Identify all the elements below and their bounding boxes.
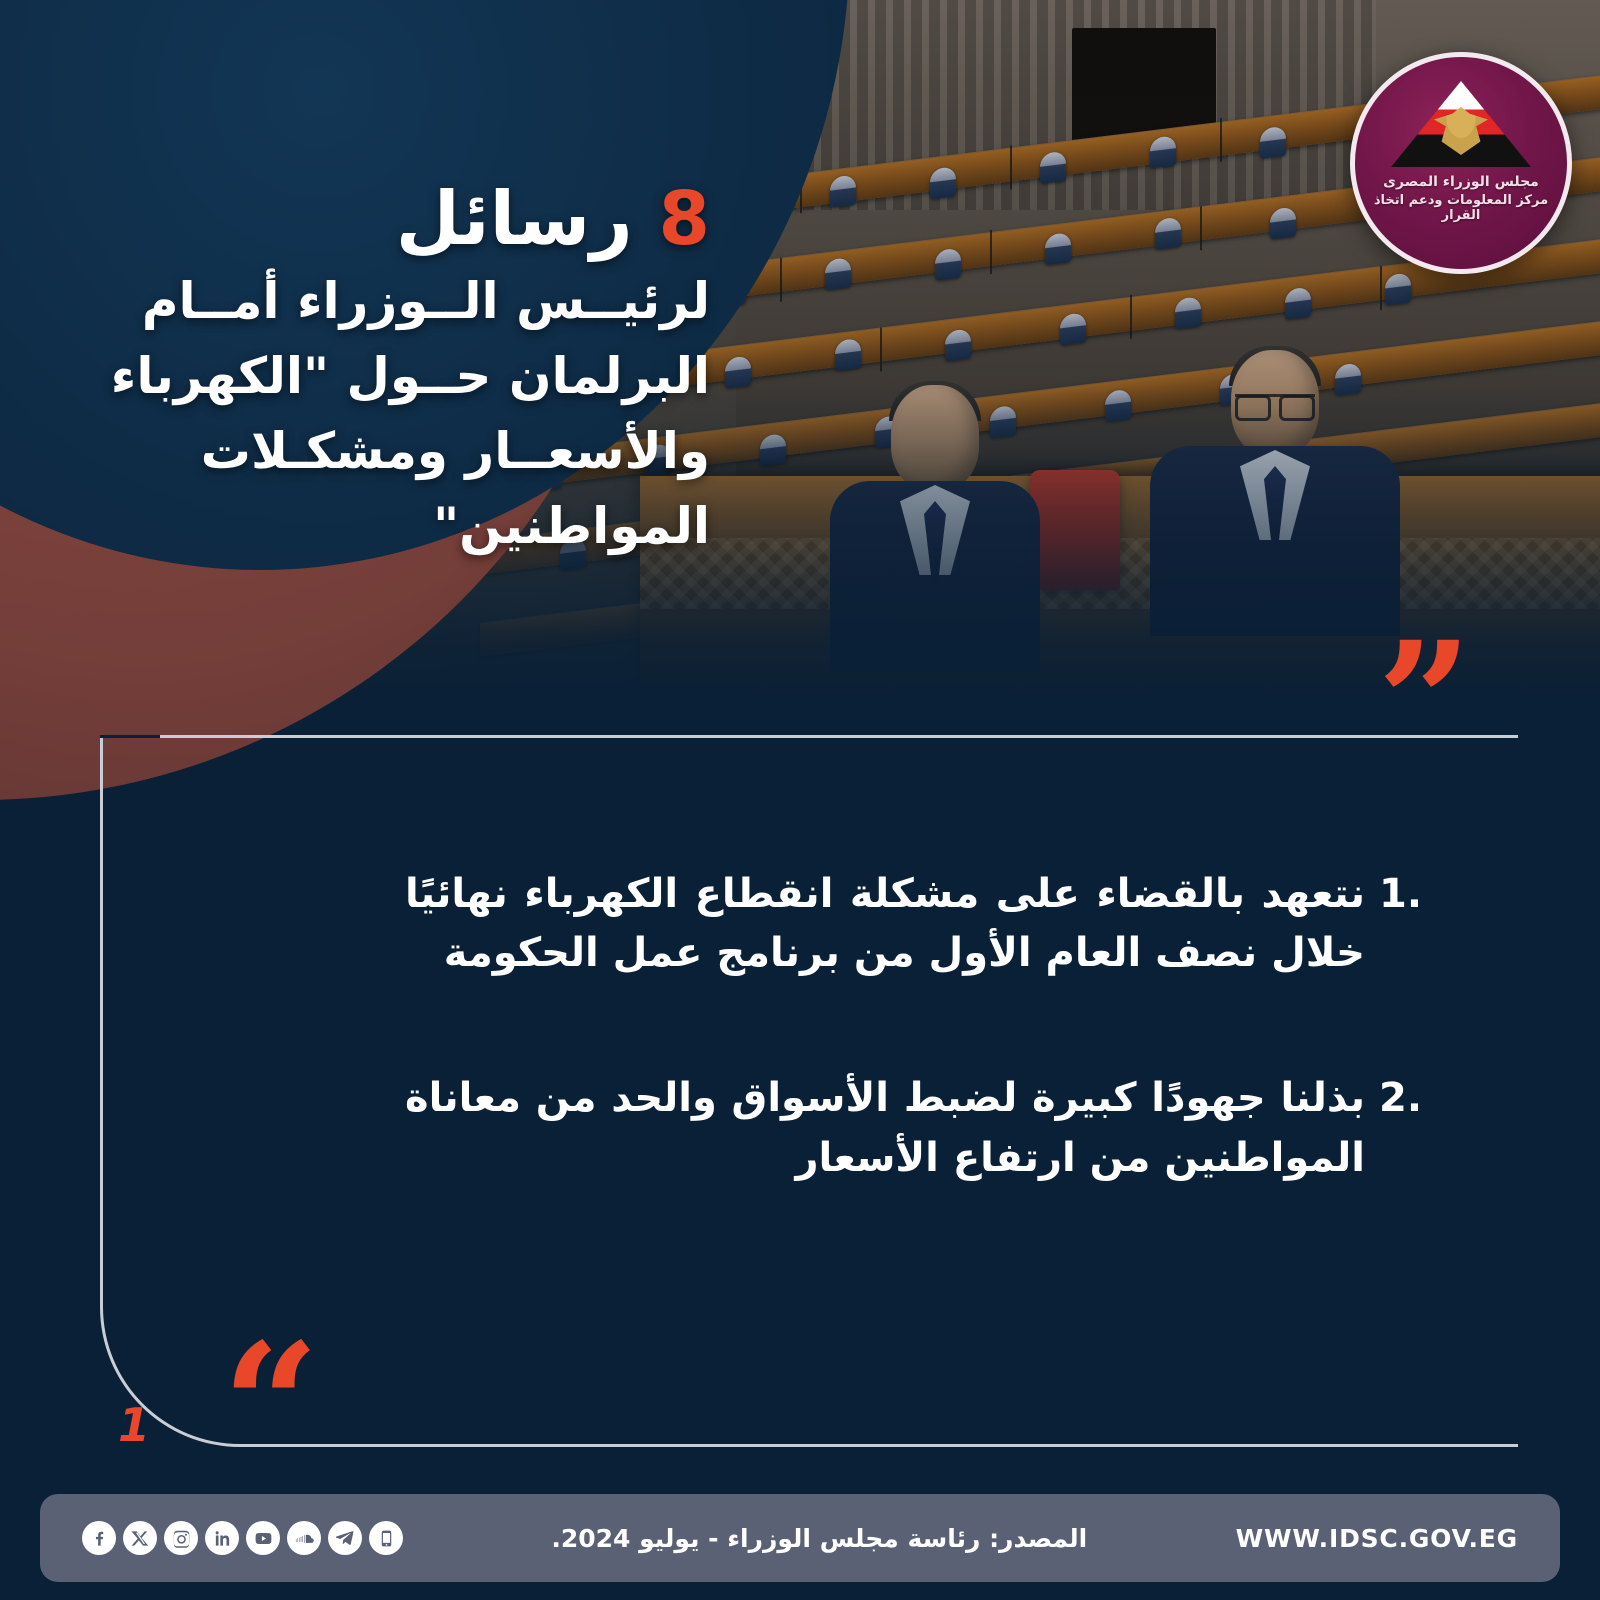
youtube-icon[interactable]	[246, 1521, 280, 1555]
instagram-icon[interactable]	[164, 1521, 198, 1555]
headline-line-4: المواطنين"	[20, 492, 710, 561]
opening-quote-icon: “	[222, 1350, 320, 1462]
point-text: بذلنا جهودًا كبيرة لضبط الأسواق والحد من…	[405, 1069, 1365, 1187]
point-number: 1.	[1379, 865, 1425, 923]
closing-quote-icon: ”	[1377, 648, 1472, 757]
soundcloud-icon[interactable]	[287, 1521, 321, 1555]
headline-block: 8 رسائل لرئيــس الــوزراء أمــام البرلما…	[20, 178, 710, 561]
source-attribution: المصدر: رئاسة مجلس الوزراء - يوليو 2024.	[551, 1524, 1087, 1553]
linkedin-icon[interactable]	[205, 1521, 239, 1555]
website-url[interactable]: WWW.IDSC.GOV.EG	[1236, 1524, 1518, 1553]
page-number: 1	[118, 1398, 150, 1452]
list-item: 2. بذلنا جهودًا كبيرة لضبط الأسواق والحد…	[405, 1069, 1425, 1187]
headline-line-1: لرئيــس الــوزراء أمــام	[20, 267, 710, 336]
social-links	[82, 1521, 403, 1555]
telegram-icon[interactable]	[328, 1521, 362, 1555]
mobile-app-icon[interactable]	[369, 1521, 403, 1555]
point-text: نتعهد بالقضاء على مشكلة انقطاع الكهرباء …	[405, 865, 1365, 983]
x-twitter-icon[interactable]	[123, 1521, 157, 1555]
messages-list: 1. نتعهد بالقضاء على مشكلة انقطاع الكهرب…	[405, 865, 1425, 1274]
headline-line-2: البرلمان حــول "الكهرباء	[20, 342, 710, 411]
infographic-canvas: 8 رسائل لرئيــس الــوزراء أمــام البرلما…	[0, 0, 1600, 1600]
message-count-word: رسائل	[396, 176, 633, 262]
message-count: 8	[659, 176, 711, 262]
idsc-logo[interactable]: مجلس الوزراء المصرى مركز المعلومات ودعم …	[1350, 52, 1572, 274]
footer-bar: WWW.IDSC.GOV.EG المصدر: رئاسة مجلس الوزر…	[40, 1494, 1560, 1582]
logo-disc: مجلس الوزراء المصرى مركز المعلومات ودعم …	[1350, 52, 1572, 274]
point-number: 2.	[1379, 1069, 1425, 1127]
logo-org-line-1: مجلس الوزراء المصرى	[1383, 174, 1539, 190]
egypt-pyramid-flag-eagle-icon	[1391, 81, 1531, 167]
list-item: 1. نتعهد بالقضاء على مشكلة انقطاع الكهرب…	[405, 865, 1425, 983]
logo-org-line-2: مركز المعلومات ودعم اتخاذ القرار	[1355, 193, 1567, 223]
headline-count-line: 8 رسائل	[20, 178, 710, 261]
headline-line-3: والأسعــار ومشكـلات	[20, 417, 710, 486]
facebook-icon[interactable]	[82, 1521, 116, 1555]
